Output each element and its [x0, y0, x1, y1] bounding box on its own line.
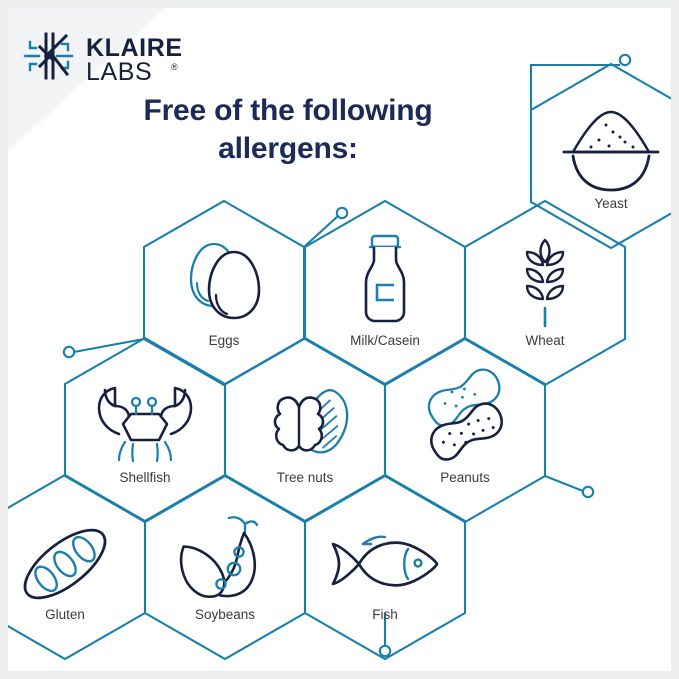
bowl-of-powder-icon [564, 112, 658, 190]
hex-wheat[interactable] [465, 201, 625, 385]
hex-soybeans[interactable] [145, 475, 305, 659]
allergen-label-soybeans: Soybeans [195, 607, 255, 622]
allergen-label-shellfish: Shellfish [119, 470, 170, 485]
fish-icon [333, 537, 437, 586]
allergen-label-peanuts: Peanuts [440, 470, 490, 485]
soybean-pods-icon [176, 517, 257, 599]
allergen-label-fish: Fish [372, 607, 398, 622]
peanut-shells-icon [409, 362, 521, 466]
two-eggs-icon [191, 244, 259, 318]
allergen-label-treenuts: Tree nuts [277, 470, 334, 485]
milk-bottle-icon [366, 236, 404, 321]
connector-node-top-right [620, 55, 630, 65]
crab-icon [99, 388, 191, 461]
wheat-stalk-icon [527, 240, 563, 326]
connector-right-lower [545, 476, 583, 491]
infographic-canvas: KLAIRE LABS ® Free of the following alle… [8, 8, 671, 671]
allergen-label-milk: Milk/Casein [350, 333, 420, 348]
connector-node-left-middle [64, 347, 74, 357]
allergen-label-wheat: Wheat [525, 333, 564, 348]
grain-pod-icon [14, 518, 116, 610]
connector-node-right-lower [583, 487, 593, 497]
allergen-label-gluten: Gluten [45, 607, 85, 622]
allergen-label-yeast: Yeast [594, 196, 627, 211]
honeycomb-grid [8, 8, 671, 671]
connector-node-eggs-right [337, 208, 347, 218]
allergen-label-eggs: Eggs [209, 333, 240, 348]
walnut-almond-icon [275, 385, 355, 458]
connector-node-bottom [380, 646, 390, 656]
